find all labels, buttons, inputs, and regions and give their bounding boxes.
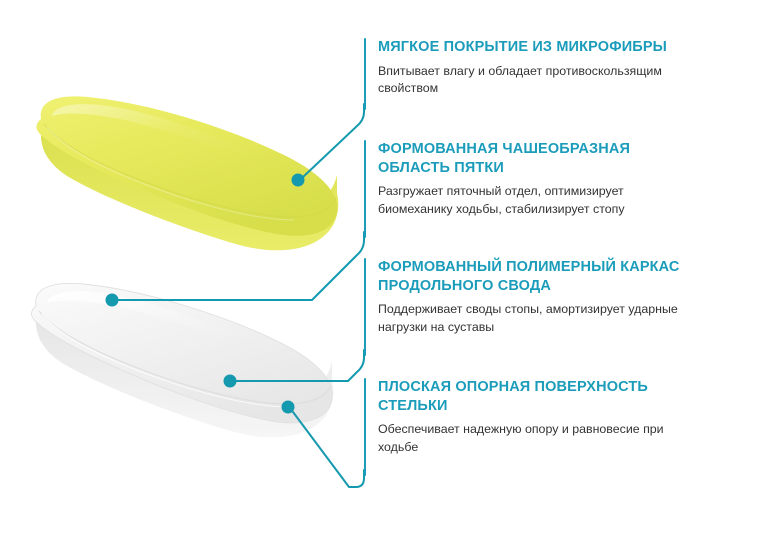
callout-microfiber: МЯГКОЕ ПОКРЫТИЕ ИЗ МИКРОФИБРЫ Впитывает … <box>364 38 700 98</box>
leader-line-arch-frame <box>236 350 364 381</box>
leader-line-flat-support <box>293 412 364 487</box>
callout-body: Обеспечивает надежную опору и равновесие… <box>378 421 696 456</box>
callout-body: Разгружает пяточный отдел, оптимизирует … <box>378 183 696 218</box>
callout-body: Поддерживает своды стопы, амортизирует у… <box>378 301 696 336</box>
callout-flat-support: ПЛОСКАЯ ОПОРНАЯ ПОВЕРХНОСТЬ СТЕЛЬКИ Обес… <box>364 378 700 456</box>
callout-dot-microfiber[interactable] <box>292 174 305 187</box>
callout-heading: МЯГКОЕ ПОКРЫТИЕ ИЗ МИКРОФИБРЫ <box>378 38 700 57</box>
callout-dot-heel-cup[interactable] <box>106 294 119 307</box>
leader-line-heel-cup <box>118 232 364 300</box>
callout-dot-flat-support[interactable] <box>282 401 295 414</box>
callout-arch-frame: ФОРМОВАННЫЙ ПОЛИМЕРНЫЙ КАРКАС ПРОДОЛЬНОГ… <box>364 258 700 336</box>
callout-accent-bar <box>364 38 366 110</box>
callout-heading: ФОРМОВАННАЯ ЧАШЕОБРАЗНАЯ ОБЛАСТЬ ПЯТКИ <box>378 140 700 177</box>
callout-accent-bar <box>364 140 366 238</box>
callout-heading: ПЛОСКАЯ ОПОРНАЯ ПОВЕРХНОСТЬ СТЕЛЬКИ <box>378 378 700 415</box>
callout-dots <box>106 174 305 414</box>
callout-accent-bar <box>364 378 366 476</box>
callout-heading: ФОРМОВАННЫЙ ПОЛИМЕРНЫЙ КАРКАС ПРОДОЛЬНОГ… <box>378 258 700 295</box>
leader-line-microfiber <box>303 104 364 177</box>
callout-accent-bar <box>364 258 366 356</box>
infographic-canvas: МЯГКОЕ ПОКРЫТИЕ ИЗ МИКРОФИБРЫ Впитывает … <box>0 0 768 555</box>
callout-dot-arch-frame[interactable] <box>224 375 237 388</box>
callout-body: Впитывает влагу и обладает противоскольз… <box>378 63 696 98</box>
callout-heel-cup: ФОРМОВАННАЯ ЧАШЕОБРАЗНАЯ ОБЛАСТЬ ПЯТКИ Р… <box>364 140 700 218</box>
